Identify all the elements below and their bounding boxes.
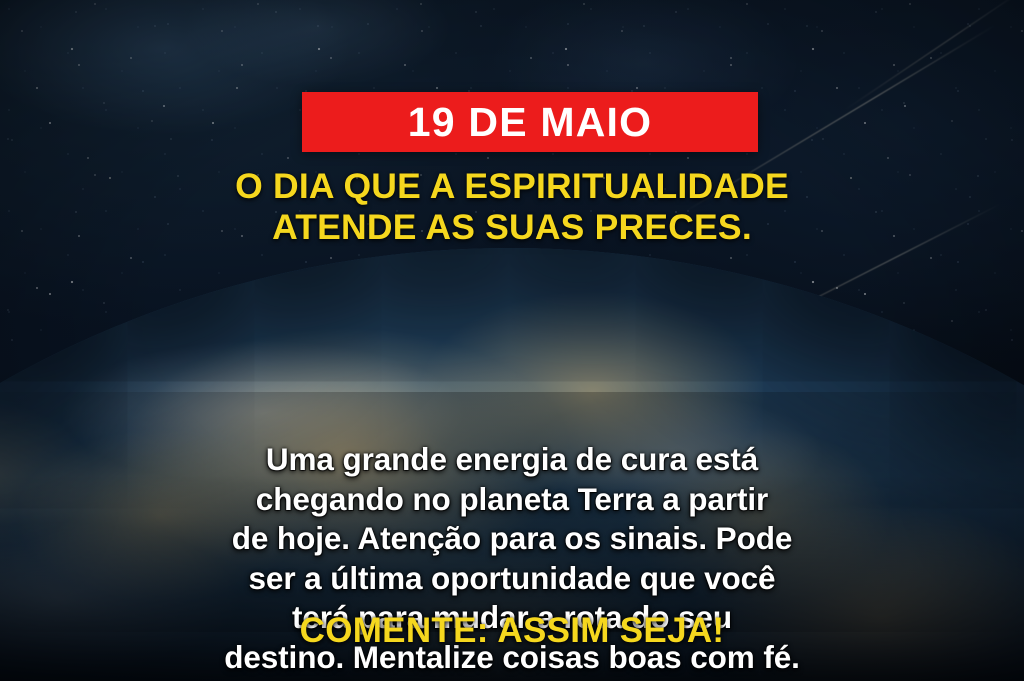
body-line-4: ser a última oportunidade que você bbox=[62, 559, 962, 599]
date-banner: 19 DE MAIO bbox=[302, 92, 758, 152]
date-banner-text: 19 DE MAIO bbox=[408, 102, 652, 143]
headline: O DIA QUE A ESPIRITUALIDADE ATENDE AS SU… bbox=[0, 166, 1024, 248]
call-to-action-text: COMENTE: ASSIM SEJA! bbox=[0, 612, 1024, 651]
headline-line-2: ATENDE AS SUAS PRECES. bbox=[0, 207, 1024, 248]
body-line-3: de hoje. Atenção para os sinais. Pode bbox=[62, 519, 962, 559]
body-line-1: Uma grande energia de cura está bbox=[62, 440, 962, 480]
poster-content: 19 DE MAIO O DIA QUE A ESPIRITUALIDADE A… bbox=[0, 0, 1024, 685]
headline-line-1: O DIA QUE A ESPIRITUALIDADE bbox=[0, 166, 1024, 207]
body-line-2: chegando no planeta Terra a partir bbox=[62, 480, 962, 520]
poster-canvas: 19 DE MAIO O DIA QUE A ESPIRITUALIDADE A… bbox=[0, 0, 1024, 685]
